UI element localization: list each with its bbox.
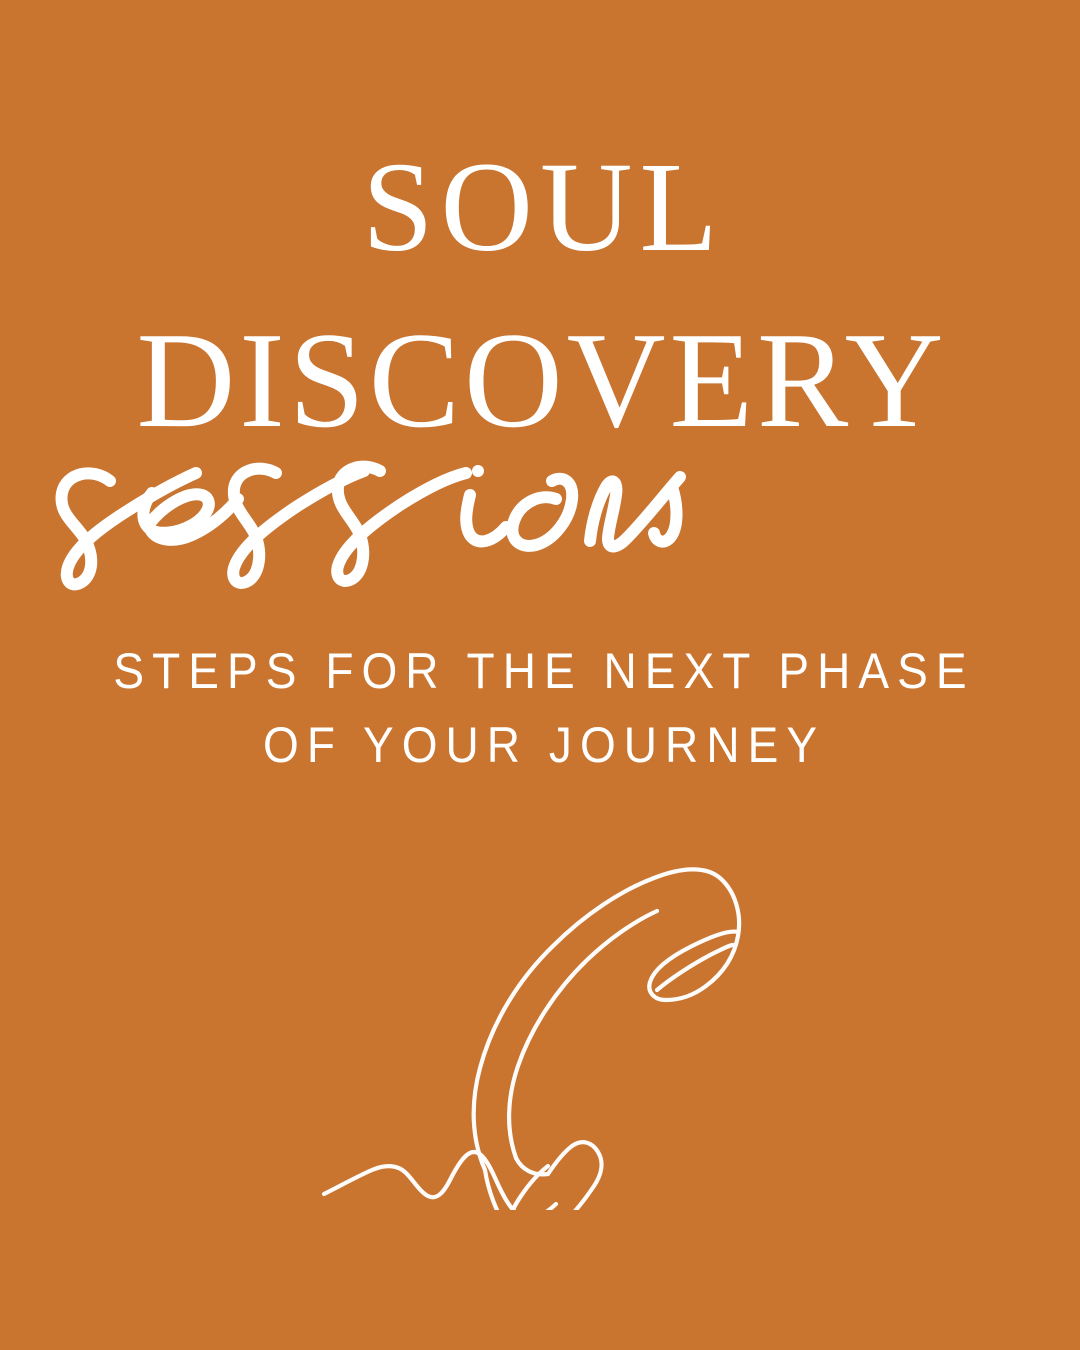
telephone-handset-icon — [310, 840, 780, 1210]
poster-canvas: SOUL DISCOVERY — [0, 0, 1080, 1350]
title-line-soul: SOUL — [0, 143, 1080, 271]
title-line-discovery: DISCOVERY — [0, 312, 1080, 449]
script-word-session — [0, 437, 1080, 597]
subtitle-block: STEPS FOR THE NEXT PHASE OF YOUR JOURNEY — [0, 634, 1080, 782]
subtitle-line-2: OF YOUR JOURNEY — [43, 708, 1037, 782]
subtitle-line-1: STEPS FOR THE NEXT PHASE — [43, 634, 1037, 708]
